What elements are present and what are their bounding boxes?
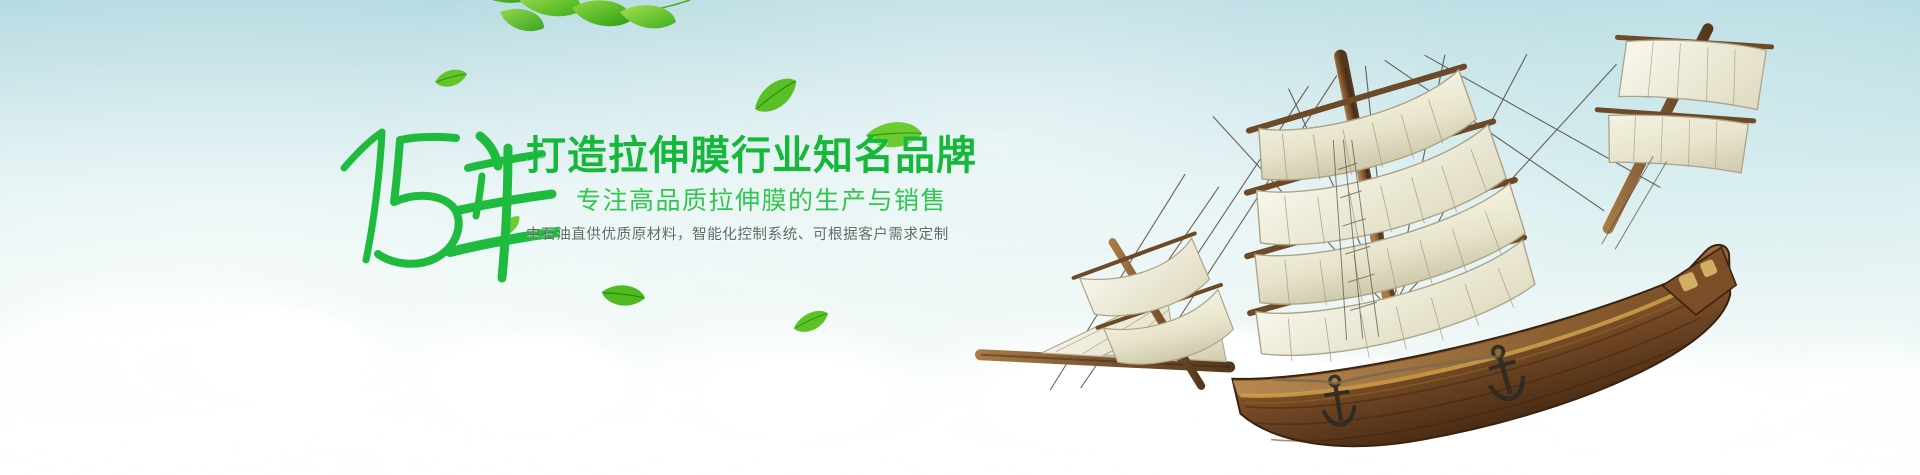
banner-tagline: 中石油直供优质原材料，智能化控制系统、可根据客户需求定制 [526, 228, 949, 243]
cloud-puff [700, 355, 890, 440]
cloud-puff [1700, 350, 1920, 430]
sail-shape [1248, 69, 1481, 192]
sail-shape [1246, 123, 1512, 259]
ship-foam [1120, 330, 1320, 420]
leaf-icon [791, 307, 832, 336]
sailing-ship [920, 0, 1920, 475]
ship-hull [1228, 243, 1755, 475]
cloud-puff [1540, 365, 1760, 455]
cloud-puff [380, 325, 620, 405]
promo-banner: 打造拉伸膜行业知名品牌 专注高品质拉伸膜的生产与销售 中石油直供优质原材料，智能… [0, 0, 1920, 475]
sail-shape [1101, 288, 1237, 373]
cloud-puff [430, 335, 630, 430]
cloud-puff [0, 315, 360, 465]
banner-text-block: 打造拉伸膜行业知名品牌 专注高品质拉伸膜的生产与销售 中石油直供优质原材料，智能… [330, 108, 970, 298]
cloud-puff [620, 355, 980, 475]
cloud-puff [980, 355, 1200, 450]
cloud-puff [1480, 345, 1780, 425]
cloud-puff [100, 305, 400, 435]
anchor-icon [1315, 333, 1528, 441]
banner-headline: 打造拉伸膜行业知名品牌 [526, 136, 977, 176]
sail-shape [1077, 236, 1214, 324]
cloud-puff [1180, 370, 1540, 475]
cloud-puff [190, 310, 370, 405]
banner-subhead: 专注高品质拉伸膜的生产与销售 [576, 189, 947, 214]
cloud-puff [20, 290, 280, 380]
cloud-puff [930, 335, 1230, 420]
sail-shape [1599, 85, 1759, 201]
leaf-cluster-top [440, 0, 700, 72]
cloud-puff [1740, 365, 1920, 475]
cloud-puff [1250, 360, 1450, 445]
cloud-puff [900, 370, 1280, 475]
cloud-puff [330, 350, 710, 470]
sail-shape [1246, 182, 1530, 318]
sail-shape [1607, 11, 1779, 139]
ship-foam [1030, 345, 1330, 455]
cloud-puff [640, 335, 900, 415]
cloud-base [0, 355, 1920, 475]
cloud-puff [1450, 370, 1850, 475]
leaf-icon [434, 68, 468, 90]
sail-shape [1250, 239, 1541, 371]
